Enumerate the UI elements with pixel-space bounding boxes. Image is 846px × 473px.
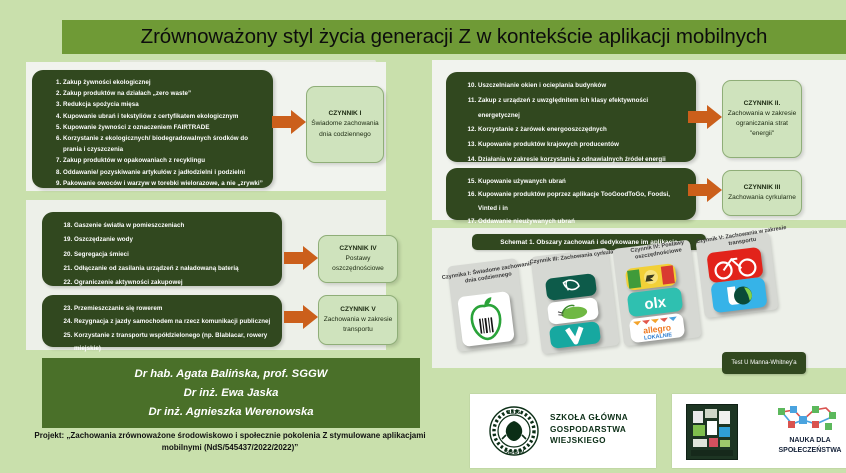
list-item: Zakup żywności ekologicznej	[63, 77, 263, 88]
behaviour-list-3: Przemieszczanie się roweremRezygnacja z …	[42, 295, 282, 347]
list-item: Zakup produktów w opakowaniach z recykli…	[63, 155, 263, 166]
behaviour-list-4: Uszczelnianie okien i ocieplania budynkó…	[446, 72, 696, 162]
svg-text:1816: 1816	[508, 410, 520, 416]
nds-line-1: NAUKA DLA	[776, 436, 844, 446]
sggw-name: SZKOŁA GŁÓWNA GOSPODARSTWA WIEJSKIEGO	[550, 412, 628, 447]
author-3: Dr inż. Agnieszka Werenowska	[148, 406, 313, 418]
factor-2-body: Zachowania w zakresie ograniczania strat…	[728, 110, 797, 137]
behaviour-list-2-items: Gaszenie światła w pomieszczeniachOszczę…	[54, 219, 272, 290]
poster-canvas: Zrównoważony styl życia generacji Z w ko…	[0, 0, 846, 473]
list-item: Korzystanie z żarówek energooszczędnych	[478, 123, 686, 138]
arrow-right-icon-3	[284, 305, 318, 329]
factor-box-2: CZYNNIK II.Zachowania w zakresie ogranic…	[722, 80, 802, 158]
svg-text:olx: olx	[643, 294, 667, 314]
behaviour-list-2: Gaszenie światła w pomieszczeniachOszczę…	[42, 212, 282, 286]
list-item: Kupowanie produktów krajowych producentó…	[478, 138, 686, 153]
behaviour-list-5-items: Kupowanie używanych ubrańKupowanie produ…	[458, 175, 686, 229]
factor-3-body: Zachowania cyrkularne	[728, 194, 796, 201]
sggw-line-3: WIEJSKIEGO	[550, 435, 628, 447]
list-item: Pakowanie owoców i warzyw w torebki wiel…	[63, 178, 263, 189]
nds-name: NAUKA DLA SPOŁECZEŃSTWA	[776, 436, 844, 455]
list-item: Kupowanie ubrań i tekstyliów z certyfika…	[63, 111, 263, 122]
arrow-right-icon-1	[272, 110, 306, 134]
factor-1-head: CZYNNIK I	[311, 109, 379, 119]
list-item: Kupowanie używanych ubrań	[478, 175, 686, 188]
factor-2-head: CZYNNIK II.	[727, 99, 797, 109]
behaviour-list-1-items: Zakup żywności ekologicznejZakup produkt…	[44, 77, 263, 189]
factor-5-head: CZYNNIK V	[323, 305, 393, 315]
factor-3-head: CZYNNIK III	[728, 183, 796, 193]
authors-band: Dr hab. Agata Balińska, prof. SGGW Dr in…	[42, 358, 420, 428]
sggw-line-1: SZKOŁA GŁÓWNA	[550, 412, 628, 424]
svg-text:SGGW: SGGW	[504, 449, 525, 456]
factor-5-body: Zachowania w zakresie transportu	[324, 316, 393, 333]
factor-4-body: Postawy oszczędnościowe	[332, 255, 384, 272]
list-item: Ograniczenie aktywności zakupowej	[74, 276, 272, 290]
sggw-line-2: GOSPODARSTWA	[550, 424, 628, 436]
list-item: Kupowanie produktów poprzez aplikacje To…	[478, 188, 686, 215]
list-item: Oddawanie/ pozyskiwanie artykułów z jadł…	[63, 167, 263, 178]
list-item: Kupowanie żywności z oznaczeniem FAIRTRA…	[63, 122, 263, 133]
arrow-right-icon-2	[284, 246, 318, 270]
nds-publication-thumbnail	[686, 404, 738, 460]
nds-logo-box: NAUKA DLA SPOŁECZEŃSTWA	[672, 394, 846, 468]
list-item: Zakup z urządzeń z uwzględnitem ich klas…	[478, 94, 686, 124]
arrow-right-icon-5	[688, 178, 722, 202]
poster-title-bar: Zrównoważony styl życia generacji Z w ko…	[62, 20, 846, 54]
behaviour-list-3-items: Przemieszczanie się roweremRezygnacja z …	[54, 302, 272, 356]
author-1: Dr hab. Agata Balińska, prof. SGGW	[135, 368, 328, 380]
list-item: Redukcja spożycia mięsa	[63, 99, 263, 110]
behaviour-list-4-items: Uszczelnianie okien i ocieplania budynkó…	[458, 79, 686, 168]
nds-line-2: SPOŁECZEŃSTWA	[776, 446, 844, 456]
factor-4-head: CZYNNIK IV	[323, 244, 393, 254]
list-item: Gaszenie światła w pomieszczeniach	[74, 219, 272, 233]
list-item: Uszczelnianie okien i ocieplania budynkó…	[478, 79, 686, 94]
list-item: Rezygnacja z jazdy samochodem na rzecz k…	[74, 315, 272, 328]
factor-1-body: Świadome zachowania dnia codziennego	[311, 120, 378, 137]
apple-barcode-icon	[457, 291, 515, 347]
sggw-logo-box: 1816 SGGW SZKOŁA GŁÓWNA GOSPODARSTWA WIE…	[470, 394, 656, 468]
factor-box-4: CZYNNIK IVPostawy oszczędnościowe	[318, 235, 398, 283]
arrow-right-icon-4	[688, 105, 722, 129]
list-item: Segregacja śmieci	[74, 248, 272, 262]
list-item: Oddawanie nieużywanych ubrań	[478, 215, 686, 228]
poster-title: Zrównoważony styl życia generacji Z w ko…	[141, 25, 768, 49]
list-item: Przemieszczanie się rowerem	[74, 302, 272, 315]
sggw-seal-icon: 1816 SGGW	[488, 405, 540, 457]
mann-whitney-label: Test U Manna-Whitney'a	[722, 352, 806, 374]
factor-box-3: CZYNNIK IIIZachowania cyrkularne	[722, 170, 802, 216]
behaviour-list-5: Kupowanie używanych ubrańKupowanie produ…	[446, 168, 696, 220]
list-item: Korzystanie z transportu współdzielonego…	[74, 329, 272, 356]
nds-network-icon	[772, 402, 846, 434]
list-item: Korzystanie z ekologicznych/ biodegradow…	[63, 133, 263, 155]
list-item: Zakup produktów na działach „zero waste”	[63, 88, 263, 99]
list-item: Odłączanie od zasilania urządzeń z naład…	[74, 262, 272, 276]
author-2: Dr inż. Ewa Jaska	[184, 387, 279, 399]
list-item: Działania w zakresie korzystania z odnaw…	[478, 153, 686, 168]
factor-box-5: CZYNNIK VZachowania w zakresie transport…	[318, 295, 398, 345]
factor-box-1: CZYNNIK IŚwiadome zachowania dnia codzie…	[306, 86, 384, 163]
project-note: Projekt: „Zachowania zrównoważone środow…	[30, 430, 430, 454]
behaviour-list-1: Zakup żywności ekologicznejZakup produkt…	[32, 70, 273, 188]
list-item: Oszczędzanie wody	[74, 233, 272, 247]
